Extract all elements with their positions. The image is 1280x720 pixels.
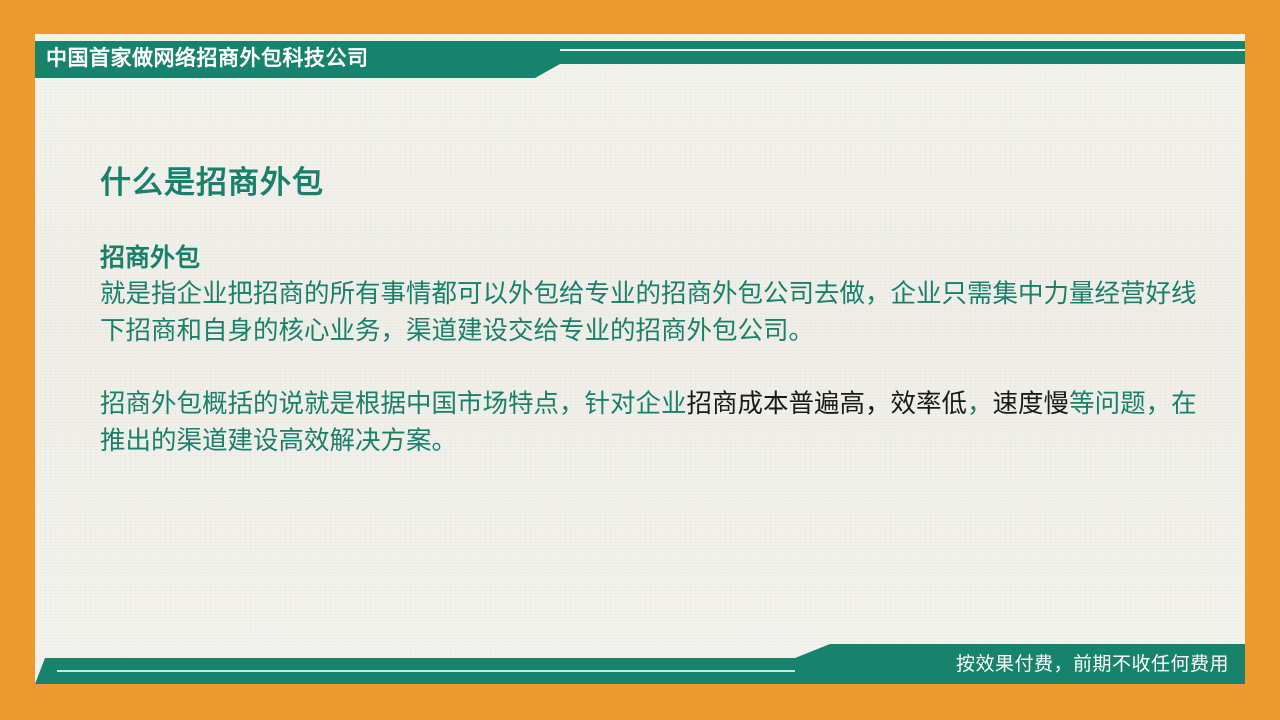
paragraph-summary-emphasis-2: 速度慢 — [993, 390, 1070, 418]
content-area: 什么是招商外包 招商外包 就是指企业把招商的所有事情都可以外包给专业的招商外包公… — [100, 164, 1220, 460]
footer-tagline-block: 按效果付费，前期不收任何费用 — [795, 644, 1245, 684]
paragraph-summary-lead: 招商外包概括的说就是根据中国市场特点，针对企业 — [100, 390, 687, 418]
header-banner: 中国首家做网络招商外包科技公司 — [35, 41, 1245, 85]
lead-term: 招商外包 — [100, 243, 1220, 274]
footer-banner: 按效果付费，前期不收任何费用 — [35, 634, 1245, 684]
paragraph-summary-comma: ， — [967, 390, 993, 418]
footer-tagline: 按效果付费，前期不收任何费用 — [956, 644, 1229, 684]
slide: 中国首家做网络招商外包科技公司 什么是招商外包 招商外包 就是指企业把招商的所有… — [0, 0, 1280, 720]
slide-paper-panel: 中国首家做网络招商外包科技公司 什么是招商外包 招商外包 就是指企业把招商的所有… — [35, 34, 1245, 684]
header-title: 中国首家做网络招商外包科技公司 — [46, 41, 369, 78]
header-hairline-divider — [540, 49, 1245, 51]
paragraph-summary: 招商外包概括的说就是根据中国市场特点，针对企业招商成本普遍高，效率低，速度慢等问… — [100, 386, 1220, 460]
footer-hairline-divider — [57, 670, 912, 672]
header-title-block: 中国首家做网络招商外包科技公司 — [35, 41, 560, 78]
paragraph-definition: 就是指企业把招商的所有事情都可以外包给专业的招商外包公司去做，企业只需集中力量经… — [100, 276, 1220, 350]
paragraph-summary-emphasis: 招商成本普遍高，效率低 — [687, 390, 968, 418]
section-heading: 什么是招商外包 — [100, 164, 1220, 201]
